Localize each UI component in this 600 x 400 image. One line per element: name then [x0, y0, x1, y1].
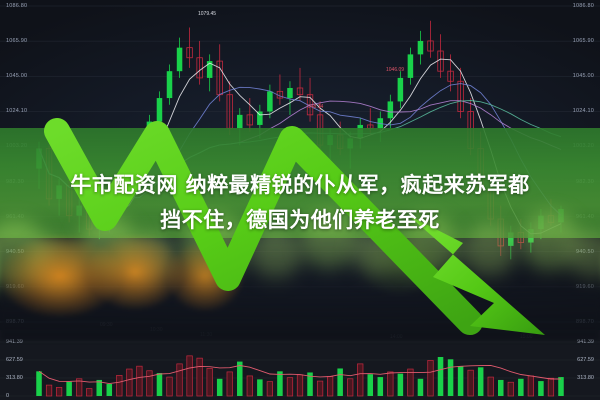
- price-axis-tick-right: 1024.10: [573, 108, 594, 114]
- volume-bar: [237, 362, 243, 396]
- volume-chart-panel: [0, 330, 600, 400]
- warm-bokeh-glow: [0, 236, 600, 340]
- volume-bar: [217, 379, 223, 396]
- volume-bar: [488, 377, 494, 396]
- volume-bar: [66, 382, 72, 396]
- volume-bar: [508, 382, 514, 396]
- left-marker: 1046.09: [386, 67, 404, 73]
- volume-bar: [127, 369, 133, 396]
- volume-bar: [398, 374, 404, 396]
- volume-bar: [388, 372, 394, 396]
- price-axis-tick-right: 1045.00: [573, 73, 594, 79]
- volume-bar: [147, 371, 153, 396]
- volume-bar: [428, 360, 434, 396]
- volume-bar: [347, 379, 353, 396]
- volume-bar: [197, 358, 203, 396]
- volume-bar: [117, 375, 123, 396]
- volume-bar: [36, 371, 42, 396]
- volume-bar: [247, 376, 253, 396]
- volume-bar: [418, 379, 424, 396]
- candle-body: [408, 54, 414, 78]
- candle-body: [267, 91, 273, 111]
- volume-bar: [267, 382, 273, 396]
- candle-body: [388, 101, 394, 118]
- price-axis-tick-right: 1086.80: [573, 3, 594, 9]
- volume-bar: [167, 377, 173, 396]
- volume-bar: [558, 377, 564, 396]
- headline-line-2: 挡不住，德国为他们养老至死: [0, 203, 600, 238]
- candle-body: [287, 88, 293, 98]
- candle-body: [157, 98, 163, 122]
- volume-bar: [107, 384, 113, 396]
- volume-bar: [468, 370, 474, 396]
- chart-screenshot: 1086.801086.801065.901065.901045.001045.…: [0, 0, 600, 400]
- low-marker: 948.14: [308, 104, 323, 110]
- price-axis-tick-right: 1065.90: [573, 38, 594, 44]
- volume-bar: [548, 378, 554, 396]
- volume-bar: [368, 374, 374, 396]
- headline-line-1: 牛市配资网 纳粹最精锐的仆从军，疯起来苏军都: [0, 168, 600, 203]
- volume-bar: [378, 377, 384, 396]
- volume-bar: [86, 389, 92, 396]
- volume-bar: [458, 366, 464, 396]
- volume-bar: [137, 366, 143, 396]
- candle-body: [167, 71, 173, 98]
- volume-bar: [538, 381, 544, 396]
- price-axis-tick-left: 1045.00: [6, 73, 27, 79]
- price-axis-tick-left: 1086.80: [6, 3, 27, 9]
- volume-bar: [46, 385, 52, 396]
- volume-bar: [157, 373, 163, 396]
- volume-bar: [297, 375, 303, 396]
- volume-bar: [448, 359, 454, 396]
- candle-body: [398, 78, 404, 102]
- volume-axis-tick-right: 313.80: [577, 375, 594, 381]
- volume-bars-svg: [0, 330, 600, 400]
- headline-overlay: 牛市配资网 纳粹最精锐的仆从军，疯起来苏军都 挡不住，德国为他们养老至死: [0, 168, 600, 238]
- volume-axis-tick-right: 627.59: [577, 357, 594, 363]
- volume-bar: [438, 357, 444, 396]
- volume-bar: [498, 380, 504, 396]
- candle-body: [418, 41, 424, 54]
- volume-bar: [287, 378, 293, 396]
- volume-bar: [177, 364, 183, 396]
- price-axis-tick-left: 1024.10: [6, 108, 27, 114]
- high-marker: 1079.45: [198, 11, 216, 17]
- volume-bar: [187, 356, 193, 396]
- volume-bar: [518, 379, 524, 396]
- volume-bar: [227, 372, 233, 396]
- volume-bar: [337, 368, 343, 396]
- volume-bar: [528, 376, 534, 396]
- volume-bar: [257, 379, 263, 396]
- volume-axis-tick-left: 627.59: [6, 357, 23, 363]
- volume-bar: [317, 381, 323, 396]
- price-axis-tick-left: 1065.90: [6, 38, 27, 44]
- volume-bar: [277, 371, 283, 396]
- volume-bar: [478, 367, 484, 396]
- volume-bar: [357, 364, 363, 396]
- volume-bar: [327, 376, 333, 396]
- volume-bar: [56, 387, 62, 396]
- volume-axis-tick-left: 313.80: [6, 375, 23, 381]
- volume-bar: [207, 368, 213, 396]
- volume-axis-tick-left: 0: [6, 393, 9, 399]
- candle-body: [177, 48, 183, 72]
- volume-bar: [408, 369, 414, 396]
